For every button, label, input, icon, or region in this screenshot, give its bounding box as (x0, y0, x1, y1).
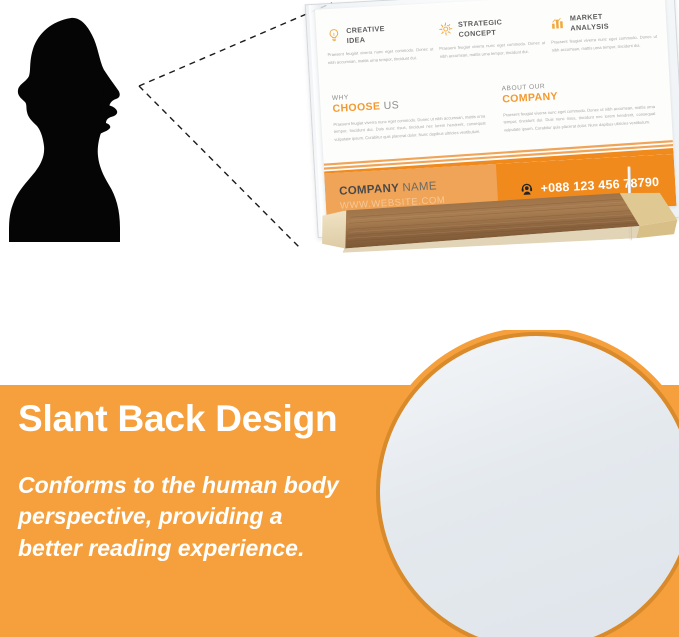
top-illustration-section: CREATIVE IDEA Praesent feugiat viverra n… (0, 0, 679, 330)
flyer-feature-columns: CREATIVE IDEA Praesent feugiat viverra n… (326, 9, 660, 66)
headset-support-icon (520, 182, 534, 197)
bar-chart-icon (550, 15, 566, 31)
sub-copy: Conforms to the human body perspective, … (18, 470, 348, 564)
feature-title-line1: CREATIVE (346, 24, 385, 35)
printed-flyer: CREATIVE IDEA Praesent feugiat viverra n… (315, 0, 677, 225)
section-title-muted: US (383, 99, 399, 112)
acrylic-sign-holder: CREATIVE IDEA Praesent feugiat viverra n… (290, 0, 679, 297)
feature-column: MARKET ANALYSIS Praesent feugiat viverra… (550, 9, 658, 54)
feature-title-line2: ANALYSIS (570, 21, 609, 32)
lightbulb-icon (326, 27, 342, 43)
feature-body: Praesent feugiat viverra nunc eget commo… (439, 39, 546, 59)
feature-title-line2: CONCEPT (458, 27, 496, 38)
product-marketing-image: CREATIVE IDEA Praesent feugiat viverra n… (0, 0, 679, 637)
section-body: Praesent feugiat viverra nunc eget commo… (503, 103, 656, 134)
feature-column: STRATEGIC CONCEPT Praesent feugiat viver… (438, 15, 546, 60)
slant-base-closeup-photo (371, 330, 679, 637)
headline: Slant Back Design (18, 398, 337, 440)
section-body: Praesent feugiat viverra nunc eget commo… (333, 113, 486, 144)
section-title-accent: COMPANY (502, 90, 558, 105)
gear-icon (438, 21, 454, 37)
bottom-feature-section: Slant Back Design Conforms to the human … (0, 330, 679, 637)
feature-title-line2: IDEA (347, 35, 366, 45)
feature-body: Praesent feugiat viverra nunc eget commo… (551, 33, 658, 53)
section-title-accent: CHOOSE (332, 100, 381, 115)
feature-column: CREATIVE IDEA Praesent feugiat viverra n… (326, 21, 434, 66)
feature-body: Praesent feugiat viverra nunc eget commo… (327, 46, 434, 66)
woman-head-profile-silhouette (8, 14, 158, 242)
flyer-text-sections: WHY CHOOSE US Praesent feugiat viverra n… (332, 77, 664, 143)
flyer-section: WHY CHOOSE US Praesent feugiat viverra n… (332, 87, 486, 144)
flyer-section: ABOUT OUR COMPANY Praesent feugiat viver… (502, 77, 656, 134)
